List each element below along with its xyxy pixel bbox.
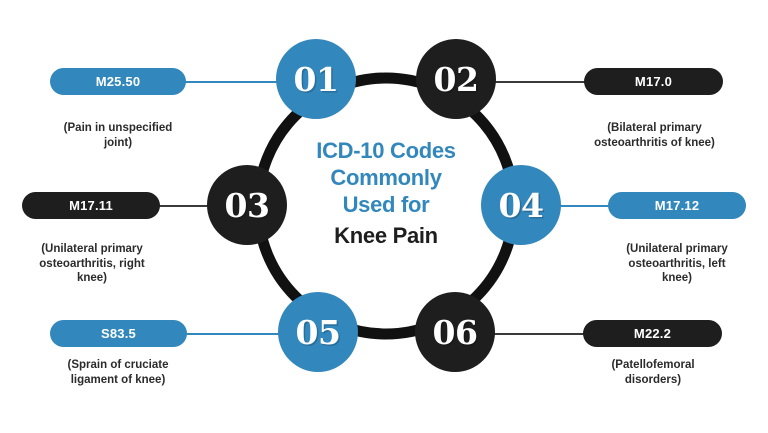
- node-number-03: 03: [225, 189, 270, 222]
- code-caption-02: (Bilateral primary osteoarthritis of kne…: [577, 121, 732, 150]
- code-caption-06: (Patellofemoral disorders): [577, 358, 729, 387]
- code-pill-06[interactable]: M22.2: [583, 320, 722, 347]
- code-pill-04[interactable]: M17.12: [608, 192, 746, 219]
- node-circle-05[interactable]: 05: [278, 292, 358, 372]
- code-label-04: M17.12: [655, 198, 700, 213]
- code-label-02: M17.0: [635, 74, 672, 89]
- code-label-01: M25.50: [96, 74, 141, 89]
- code-label-05: S83.5: [101, 326, 136, 341]
- title-line-3: Used for: [269, 192, 503, 219]
- title-line-4: Knee Pain: [269, 223, 503, 250]
- code-caption-01: (Pain in unspecified joint): [42, 121, 194, 150]
- title-line-1: ICD-10 Codes: [269, 138, 503, 165]
- code-caption-04: (Unilateral primary osteoarthritis, left…: [601, 242, 753, 286]
- node-number-05: 05: [296, 316, 341, 349]
- center-title: ICD-10 Codes Commonly Used for Knee Pain: [269, 138, 503, 250]
- node-number-06: 06: [433, 316, 478, 349]
- node-number-04: 04: [499, 189, 544, 222]
- code-label-06: M22.2: [634, 326, 671, 341]
- code-label-03: M17.11: [69, 198, 113, 213]
- node-number-02: 02: [434, 63, 479, 96]
- node-circle-02[interactable]: 02: [416, 39, 496, 119]
- infographic-canvas: 01 M25.50 (Pain in unspecified joint) 02…: [0, 0, 768, 433]
- node-circle-06[interactable]: 06: [415, 292, 495, 372]
- code-pill-05[interactable]: S83.5: [50, 320, 187, 347]
- code-pill-03[interactable]: M17.11: [22, 192, 160, 219]
- node-number-01: 01: [294, 63, 339, 96]
- code-caption-03: (Unilateral primary osteoarthritis, righ…: [17, 242, 167, 286]
- node-circle-01[interactable]: 01: [276, 39, 356, 119]
- node-circle-04[interactable]: 04: [481, 165, 561, 245]
- code-pill-02[interactable]: M17.0: [584, 68, 723, 95]
- code-pill-01[interactable]: M25.50: [50, 68, 186, 95]
- title-line-2: Commonly: [269, 165, 503, 192]
- code-caption-05: (Sprain of cruciate ligament of knee): [42, 358, 194, 387]
- node-circle-03[interactable]: 03: [207, 165, 287, 245]
